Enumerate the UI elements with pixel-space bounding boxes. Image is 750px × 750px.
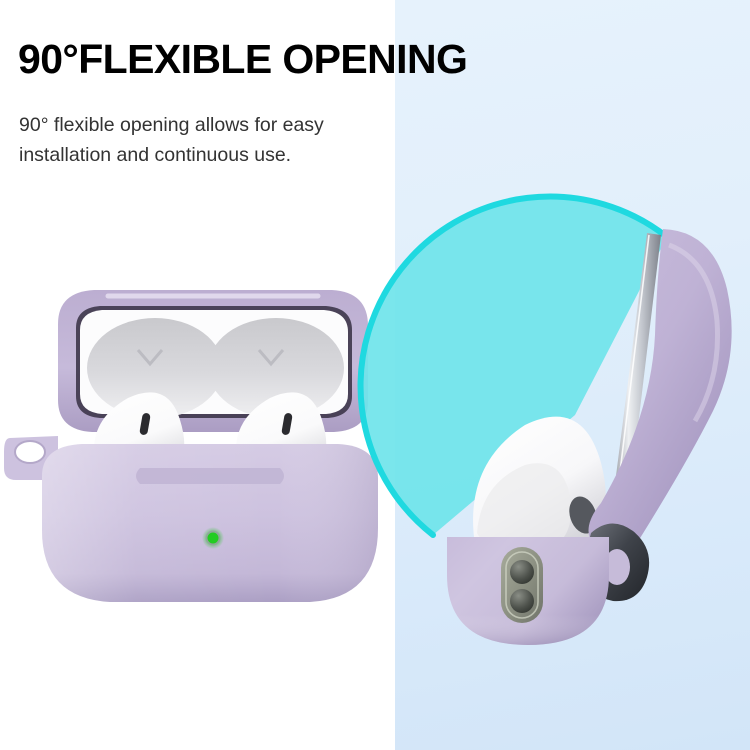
case-body-lip-groove (136, 468, 284, 484)
subtitle: 90° flexible opening allows for easy ins… (19, 110, 449, 170)
charging-status-led (202, 527, 224, 549)
speaker-hole-bottom (510, 589, 534, 613)
product-feature-banner: 90°FLEXIBLE OPENING 90° flexible opening… (0, 0, 750, 750)
subtitle-line-1: 90° flexible opening allows for easy (19, 110, 449, 140)
subtitle-line-2: installation and continuous use. (19, 140, 449, 170)
case-lid (58, 290, 368, 432)
speaker-module (501, 547, 543, 623)
headline: 90°FLEXIBLE OPENING (18, 36, 467, 82)
speaker-hole-top (510, 560, 534, 584)
left-product-open-case (0, 280, 400, 620)
case-body (42, 444, 378, 602)
case-body-shading (42, 444, 378, 602)
led-core (208, 533, 219, 544)
right-product-90-degree-open (415, 215, 735, 660)
